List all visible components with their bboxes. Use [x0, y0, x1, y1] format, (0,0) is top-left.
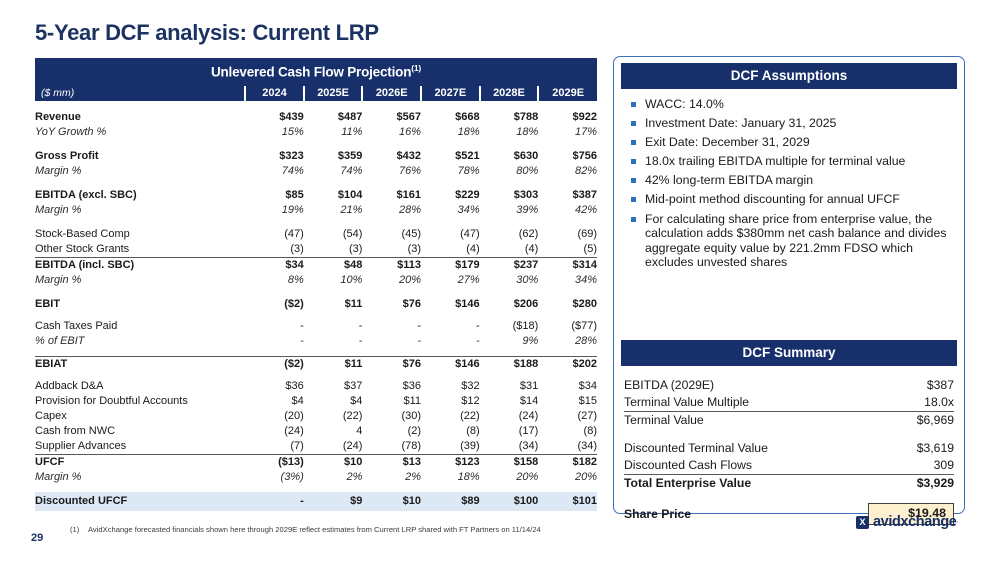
table-row: Provision for Doubtful Accounts $4 $4 $1…: [35, 394, 597, 409]
row-value: 74%: [304, 164, 363, 179]
row-spacer: [35, 312, 597, 319]
row-value: (4): [421, 242, 480, 258]
row-value: 18%: [421, 125, 480, 140]
row-value: 20%: [362, 273, 421, 288]
avidxchange-logo: X avidxchange ·: [856, 514, 959, 530]
row-value: (34): [480, 439, 539, 455]
row-value: $146: [421, 356, 480, 372]
row-value: (7): [245, 439, 304, 455]
table-row: EBITDA (2029E) $387: [624, 377, 954, 394]
row-value: -: [421, 334, 480, 349]
row-value: $521: [421, 149, 480, 164]
row-spacer: [35, 349, 597, 357]
row-label: Addback D&A: [35, 379, 245, 394]
row-value: $32: [421, 379, 480, 394]
row-label: Discounted UFCF: [35, 492, 245, 511]
row-label: Total Enterprise Value: [624, 475, 849, 493]
list-item: WACC: 14.0%: [630, 97, 950, 112]
row-value: $756: [538, 149, 597, 164]
list-item: Mid-point method discounting for annual …: [630, 192, 950, 207]
row-spacer: [35, 288, 597, 297]
row-value: 2%: [362, 470, 421, 485]
page-title: 5-Year DCF analysis: Current LRP: [35, 20, 379, 46]
row-value: $85: [245, 188, 304, 203]
row-value: 34%: [538, 273, 597, 288]
row-value: $123: [421, 454, 480, 470]
table-row: Discounted Terminal Value $3,619: [624, 440, 954, 457]
row-value: $922: [538, 110, 597, 125]
row-value: -: [245, 334, 304, 349]
row-value: $11: [304, 297, 363, 312]
row-value: (62): [480, 227, 539, 242]
row-label: Supplier Advances: [35, 439, 245, 455]
row-value: $34: [245, 257, 304, 273]
row-value: $10: [304, 454, 363, 470]
row-value: $567: [362, 110, 421, 125]
row-value: 21%: [304, 203, 363, 218]
row-value: $76: [362, 297, 421, 312]
row-value: $10: [362, 492, 421, 511]
projection-header-row: ($ mm) 2024 2025E 2026E 2027E 2028E 2029…: [35, 86, 597, 101]
row-value: ($2): [245, 356, 304, 372]
dcf-side-panel: DCF Assumptions WACC: 14.0% Investment D…: [613, 56, 965, 514]
row-value: (5): [538, 242, 597, 258]
row-value: -: [304, 319, 363, 334]
projection-band-label: Unlevered Cash Flow Projection: [211, 65, 411, 80]
row-value: 76%: [362, 164, 421, 179]
logo-wordmark: avidxchange: [873, 514, 956, 530]
projection-band-title: Unlevered Cash Flow Projection(1): [35, 58, 597, 86]
row-value: $323: [245, 149, 304, 164]
row-value: 9%: [480, 334, 539, 349]
row-value: $11: [362, 394, 421, 409]
row-value: $104: [304, 188, 363, 203]
row-label: % of EBIT: [35, 334, 245, 349]
row-value: $48: [304, 257, 363, 273]
table-row: Discounted Cash Flows 309: [624, 457, 954, 475]
row-value: $36: [245, 379, 304, 394]
row-spacer: [35, 179, 597, 188]
row-value: $36: [362, 379, 421, 394]
list-item: For calculating share price from enterpr…: [630, 212, 950, 270]
row-value: (69): [538, 227, 597, 242]
row-spacer: [35, 101, 597, 110]
row-label: Stock-Based Comp: [35, 227, 245, 242]
row-value: (22): [421, 409, 480, 424]
table-row: Total Enterprise Value $3,929: [624, 475, 954, 493]
row-value: 16%: [362, 125, 421, 140]
table-row: Capex (20) (22) (30) (22) (24) (27): [35, 409, 597, 424]
row-label: EBIT: [35, 297, 245, 312]
row-value: $158: [480, 454, 539, 470]
table-row: Margin % 8% 10% 20% 27% 30% 34%: [35, 273, 597, 288]
row-value: 10%: [304, 273, 363, 288]
row-value: -: [362, 319, 421, 334]
row-spacer: [35, 372, 597, 379]
row-value: (3): [245, 242, 304, 258]
row-value: $31: [480, 379, 539, 394]
row-value: (47): [421, 227, 480, 242]
projection-table: ($ mm) 2024 2025E 2026E 2027E 2028E 2029…: [35, 86, 597, 511]
row-value: $4: [245, 394, 304, 409]
row-label: Provision for Doubtful Accounts: [35, 394, 245, 409]
row-label: Cash Taxes Paid: [35, 319, 245, 334]
column-header-2026e: 2026E: [362, 86, 421, 101]
row-spacer: [35, 485, 597, 492]
row-value: ($13): [245, 454, 304, 470]
table-row: Gross Profit $323 $359 $432 $521 $630 $7…: [35, 149, 597, 164]
row-value: $280: [538, 297, 597, 312]
row-value: $3,619: [849, 440, 954, 457]
row-value: $487: [304, 110, 363, 125]
row-value: 27%: [421, 273, 480, 288]
table-row: Other Stock Grants (3) (3) (3) (4) (4) (…: [35, 242, 597, 258]
row-value: $202: [538, 356, 597, 372]
row-value: $37: [304, 379, 363, 394]
row-value: $9: [304, 492, 363, 511]
table-row: Margin % 74% 74% 76% 78% 80% 82%: [35, 164, 597, 179]
table-row: Supplier Advances (7) (24) (78) (39) (34…: [35, 439, 597, 455]
logo-registered-mark: ·: [956, 519, 958, 526]
row-spacer: [624, 429, 954, 440]
table-row: EBIT ($2) $11 $76 $146 $206 $280: [35, 297, 597, 312]
row-value: $206: [480, 297, 539, 312]
row-value: 34%: [421, 203, 480, 218]
row-label: Revenue: [35, 110, 245, 125]
row-value: 18.0x: [849, 394, 954, 412]
row-value: $101: [538, 492, 597, 511]
row-value: 19%: [245, 203, 304, 218]
row-value: $12: [421, 394, 480, 409]
row-value: 39%: [480, 203, 539, 218]
projection-band-superscript: (1): [411, 63, 421, 73]
row-value: 42%: [538, 203, 597, 218]
logo-x-icon: X: [856, 516, 869, 529]
row-value: $668: [421, 110, 480, 125]
row-value: (2): [362, 424, 421, 439]
table-row: Revenue $439 $487 $567 $668 $788 $922: [35, 110, 597, 125]
column-header-2027e: 2027E: [421, 86, 480, 101]
row-value: $788: [480, 110, 539, 125]
row-value: 28%: [538, 334, 597, 349]
row-value: -: [245, 319, 304, 334]
row-value: $15: [538, 394, 597, 409]
discounted-ufcf-row: Discounted UFCF - $9 $10 $89 $100 $101: [35, 492, 597, 511]
row-value: $359: [304, 149, 363, 164]
row-value: (3): [362, 242, 421, 258]
table-row: Margin % 19% 21% 28% 34% 39% 42%: [35, 203, 597, 218]
list-item: Investment Date: January 31, 2025: [630, 116, 950, 131]
row-value: $303: [480, 188, 539, 203]
row-label: Capex: [35, 409, 245, 424]
row-value: 18%: [421, 470, 480, 485]
row-value: $146: [421, 297, 480, 312]
row-value: $387: [538, 188, 597, 203]
row-value: -: [245, 492, 304, 511]
row-value: $6,969: [849, 412, 954, 430]
row-spacer: [35, 140, 597, 149]
row-value: $229: [421, 188, 480, 203]
row-value: (27): [538, 409, 597, 424]
column-header-2029e: 2029E: [538, 86, 597, 101]
row-value: $439: [245, 110, 304, 125]
row-value: (24): [245, 424, 304, 439]
table-row: EBITDA (excl. SBC) $85 $104 $161 $229 $3…: [35, 188, 597, 203]
footnote-marker: (1): [70, 524, 88, 535]
footnote-text: AvidXchange forecasted financials shown …: [88, 525, 541, 534]
dcf-summary-band-title: DCF Summary: [621, 340, 957, 366]
row-value: 17%: [538, 125, 597, 140]
row-value: $100: [480, 492, 539, 511]
row-value: 309: [849, 457, 954, 475]
row-label: Margin %: [35, 203, 245, 218]
row-value: ($2): [245, 297, 304, 312]
row-value: $630: [480, 149, 539, 164]
row-value: (39): [421, 439, 480, 455]
table-row: Cash from NWC (24) 4 (2) (8) (17) (8): [35, 424, 597, 439]
row-value: (3%): [245, 470, 304, 485]
row-value: $11: [304, 356, 363, 372]
row-label: Share Price: [624, 503, 849, 525]
row-label: EBIAT: [35, 356, 245, 372]
table-row: Margin % (3%) 2% 2% 18% 20% 20%: [35, 470, 597, 485]
row-value: $387: [849, 377, 954, 394]
row-value: $314: [538, 257, 597, 273]
row-label: Cash from NWC: [35, 424, 245, 439]
row-value: $89: [421, 492, 480, 511]
row-label: Discounted Terminal Value: [624, 440, 849, 457]
row-value: 74%: [245, 164, 304, 179]
table-row: YoY Growth % 15% 11% 16% 18% 18% 17%: [35, 125, 597, 140]
row-value: (8): [538, 424, 597, 439]
row-value: 11%: [304, 125, 363, 140]
row-value: ($77): [538, 319, 597, 334]
row-value: $4: [304, 394, 363, 409]
row-value: (47): [245, 227, 304, 242]
row-value: $76: [362, 356, 421, 372]
row-value: $188: [480, 356, 539, 372]
dcf-summary-table: EBITDA (2029E) $387 Terminal Value Multi…: [624, 377, 954, 525]
footnote: (1)AvidXchange forecasted financials sho…: [70, 524, 870, 535]
row-value: ($18): [480, 319, 539, 334]
list-item: 42% long-term EBITDA margin: [630, 173, 950, 188]
row-value: $34: [538, 379, 597, 394]
table-row: Terminal Value $6,969: [624, 412, 954, 430]
table-row: EBITDA (incl. SBC) $34 $48 $113 $179 $23…: [35, 257, 597, 273]
column-header-2028e: 2028E: [480, 86, 539, 101]
row-value: (45): [362, 227, 421, 242]
row-label: EBITDA (excl. SBC): [35, 188, 245, 203]
row-value: $237: [480, 257, 539, 273]
row-value: 30%: [480, 273, 539, 288]
row-value: (78): [362, 439, 421, 455]
row-spacer: [35, 218, 597, 227]
row-value: (22): [304, 409, 363, 424]
row-value: -: [304, 334, 363, 349]
row-value: 82%: [538, 164, 597, 179]
list-item: Exit Date: December 31, 2029: [630, 135, 950, 150]
row-value: $179: [421, 257, 480, 273]
row-value: 8%: [245, 273, 304, 288]
dcf-summary-section: DCF Summary EBITDA (2029E) $387 Terminal…: [614, 334, 964, 525]
row-label: Terminal Value: [624, 412, 849, 430]
row-value: $113: [362, 257, 421, 273]
row-label: UFCF: [35, 454, 245, 470]
row-label: EBITDA (2029E): [624, 377, 849, 394]
row-value: $182: [538, 454, 597, 470]
table-row: UFCF ($13) $10 $13 $123 $158 $182: [35, 454, 597, 470]
row-label: Margin %: [35, 273, 245, 288]
row-value: 2%: [304, 470, 363, 485]
row-value: $3,929: [849, 475, 954, 493]
row-value: $161: [362, 188, 421, 203]
row-value: $432: [362, 149, 421, 164]
row-value: 78%: [421, 164, 480, 179]
row-label: Discounted Cash Flows: [624, 457, 849, 475]
row-value: (54): [304, 227, 363, 242]
table-row: Cash Taxes Paid - - - - ($18) ($77): [35, 319, 597, 334]
table-row: Addback D&A $36 $37 $36 $32 $31 $34: [35, 379, 597, 394]
dcf-assumptions-band-title: DCF Assumptions: [621, 63, 957, 89]
row-value: (8): [421, 424, 480, 439]
row-value: (30): [362, 409, 421, 424]
row-label: Margin %: [35, 164, 245, 179]
row-value: 20%: [538, 470, 597, 485]
row-value: 28%: [362, 203, 421, 218]
row-value: -: [421, 319, 480, 334]
row-value: 20%: [480, 470, 539, 485]
row-value: (34): [538, 439, 597, 455]
row-label: YoY Growth %: [35, 125, 245, 140]
row-value: 15%: [245, 125, 304, 140]
row-value: (20): [245, 409, 304, 424]
row-label: Terminal Value Multiple: [624, 394, 849, 412]
row-value: (17): [480, 424, 539, 439]
row-value: (24): [480, 409, 539, 424]
row-value: 80%: [480, 164, 539, 179]
table-row: Stock-Based Comp (47) (54) (45) (47) (62…: [35, 227, 597, 242]
row-spacer: [624, 492, 954, 503]
row-label: Margin %: [35, 470, 245, 485]
table-row: % of EBIT - - - - 9% 28%: [35, 334, 597, 349]
row-label: Other Stock Grants: [35, 242, 245, 258]
row-value: (4): [480, 242, 539, 258]
row-value: 4: [304, 424, 363, 439]
row-value: (3): [304, 242, 363, 258]
column-header-2024: 2024: [245, 86, 304, 101]
row-value: (24): [304, 439, 363, 455]
row-label: Gross Profit: [35, 149, 245, 164]
column-header-2025e: 2025E: [304, 86, 363, 101]
dcf-assumptions-list: WACC: 14.0% Investment Date: January 31,…: [630, 97, 950, 270]
table-row: Terminal Value Multiple 18.0x: [624, 394, 954, 412]
units-label: ($ mm): [35, 86, 245, 101]
page-number: 29: [31, 532, 43, 544]
list-item: 18.0x trailing EBITDA multiple for termi…: [630, 154, 950, 169]
table-row: EBIAT ($2) $11 $76 $146 $188 $202: [35, 356, 597, 372]
row-value: $14: [480, 394, 539, 409]
row-label: EBITDA (incl. SBC): [35, 257, 245, 273]
row-value: $13: [362, 454, 421, 470]
unlevered-cash-flow-panel: Unlevered Cash Flow Projection(1) ($ mm)…: [35, 58, 597, 511]
row-value: 18%: [480, 125, 539, 140]
row-value: -: [362, 334, 421, 349]
